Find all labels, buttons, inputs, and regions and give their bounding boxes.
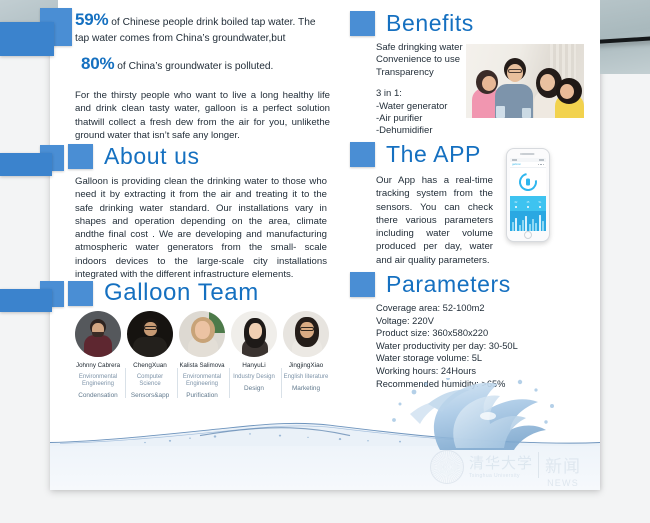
status-signal-icon bbox=[512, 159, 517, 160]
app-heading-square-icon bbox=[350, 142, 375, 167]
edge-bar-top-front bbox=[0, 22, 54, 56]
benefit-item-2: Convenience to use bbox=[376, 54, 468, 66]
university-watermark: 清华大学 Tsinghua University bbox=[430, 450, 533, 484]
family-photo-glass-2 bbox=[522, 108, 531, 118]
app-metric-2-value: 25 bbox=[527, 201, 530, 204]
phone-mockup: galloon 62 25 5L bbox=[506, 148, 550, 242]
app-gauge-area bbox=[510, 168, 546, 196]
app-logo-text: galloon bbox=[512, 163, 521, 166]
avatar bbox=[283, 311, 329, 357]
benefits-heading: Benefits bbox=[350, 10, 474, 37]
benefits-list: Safe dringking water Convenience to use … bbox=[376, 42, 468, 138]
about-heading: About us bbox=[68, 143, 200, 170]
app-metric-1: 62 bbox=[515, 201, 518, 207]
parameter-line: Water storage volume: 5L bbox=[376, 352, 591, 365]
team-heading-text: Galloon Team bbox=[104, 279, 259, 307]
edge-bar-mid-front bbox=[0, 153, 52, 176]
family-person-2-face bbox=[507, 64, 523, 82]
app-menu-icon[interactable] bbox=[538, 164, 545, 166]
app-metric-2: 25 bbox=[527, 201, 530, 207]
parameters-heading-square-icon bbox=[350, 272, 375, 297]
team-heading: Galloon Team bbox=[68, 279, 259, 307]
watermark-divider bbox=[538, 452, 539, 478]
family-photo-glass-1 bbox=[496, 106, 505, 118]
parameter-line: Voltage: 220V bbox=[376, 315, 591, 328]
stat-1-value: 59% bbox=[75, 10, 108, 29]
stat-2-text: of China’s groundwater is polluted. bbox=[114, 61, 273, 72]
stat-2-value: 80% bbox=[81, 54, 114, 73]
phone-home-button-icon[interactable] bbox=[524, 231, 532, 239]
phone-speaker-icon bbox=[522, 153, 535, 155]
benefit-item-1: Safe dringking water bbox=[376, 42, 468, 54]
benefits-spacer bbox=[376, 79, 468, 88]
family-photo bbox=[466, 44, 584, 118]
status-battery-icon bbox=[539, 159, 544, 160]
benefits-group-item-1: -Water generator bbox=[376, 101, 468, 113]
app-heading-text: The APP bbox=[386, 141, 481, 168]
member-name: HanyuLi bbox=[231, 362, 277, 370]
stats-block: 59% of Chinese people drink boiled tap w… bbox=[75, 12, 330, 142]
app-metric-3: 5L bbox=[539, 201, 542, 207]
phone-camera-icon bbox=[520, 153, 522, 155]
app-bar-chart bbox=[510, 211, 546, 231]
news-label-en: NEWS bbox=[545, 478, 581, 488]
edge-bar-bottom-front bbox=[0, 289, 52, 312]
member-name: Kalista Salimova bbox=[179, 362, 225, 370]
benefits-heading-text: Benefits bbox=[386, 10, 474, 37]
water-splash-icon bbox=[370, 378, 560, 456]
app-water-gauge-icon bbox=[516, 170, 541, 195]
phone-screen: galloon 62 25 5L bbox=[510, 158, 546, 231]
avatar bbox=[127, 311, 173, 357]
slide-root: 59% of Chinese people drink boiled tap w… bbox=[0, 0, 650, 523]
avatar bbox=[231, 311, 277, 357]
parameter-line: Product size: 360x580x220 bbox=[376, 327, 591, 340]
family-person-1-face bbox=[482, 76, 496, 91]
app-paragraph: Our App has a real-time tracking system … bbox=[376, 174, 493, 267]
university-name-cn: 清华大学 bbox=[469, 456, 533, 471]
news-watermark: 新闻 NEWS bbox=[545, 452, 581, 488]
about-heading-square-icon bbox=[68, 144, 93, 169]
family-person-3-face bbox=[540, 74, 555, 91]
about-heading-text: About us bbox=[104, 143, 200, 170]
avatar bbox=[179, 311, 225, 357]
member-name: ChengXuan bbox=[127, 362, 173, 370]
benefits-group-title: 3 in 1: bbox=[376, 88, 468, 100]
stat-1-text: of Chinese people drink boiled tap water… bbox=[75, 17, 316, 44]
stat-line-1: 59% of Chinese people drink boiled tap w… bbox=[75, 12, 330, 47]
benefits-group-item-2: -Air purifier bbox=[376, 113, 468, 125]
avatar bbox=[75, 311, 121, 357]
member-name: Johnny Cabrera bbox=[75, 362, 121, 370]
stat-line-2: 80% of China’s groundwater is polluted. bbox=[75, 56, 330, 75]
member-name: JingjingXiao bbox=[283, 362, 329, 370]
app-metric-3-value: 5L bbox=[539, 201, 542, 204]
parameter-line: Coverage area: 52-100m2 bbox=[376, 302, 591, 315]
university-seal-icon bbox=[430, 450, 464, 484]
about-paragraph: Galloon is providing clean the drinking … bbox=[75, 175, 327, 281]
university-name-en: Tsinghua University bbox=[469, 474, 533, 479]
family-person-2-glasses-icon bbox=[508, 69, 522, 73]
team-heading-square-icon bbox=[68, 281, 93, 306]
stats-paragraph: For the thirsty people who want to live … bbox=[75, 89, 330, 142]
benefits-heading-square-icon bbox=[350, 11, 375, 36]
news-label-cn: 新闻 bbox=[545, 452, 581, 477]
parameters-list: Coverage area: 52-100m2 Voltage: 220V Pr… bbox=[376, 302, 591, 390]
parameter-line: Working hours: 24Hours bbox=[376, 365, 591, 378]
app-metrics-row: 62 25 5L bbox=[510, 196, 546, 211]
benefit-item-3: Transparency bbox=[376, 67, 468, 79]
app-heading: The APP bbox=[350, 141, 481, 168]
parameters-heading-text: Parameters bbox=[386, 271, 511, 298]
parameters-heading: Parameters bbox=[350, 271, 511, 298]
parameter-line: Water productivity per day: 30-50L bbox=[376, 340, 591, 353]
app-metric-1-value: 62 bbox=[515, 201, 518, 204]
corner-photo-top-right bbox=[600, 0, 650, 74]
university-watermark-text: 清华大学 Tsinghua University bbox=[469, 456, 533, 479]
family-person-4-face bbox=[560, 84, 574, 99]
benefits-group-item-3: -Dehumidifier bbox=[376, 125, 468, 137]
